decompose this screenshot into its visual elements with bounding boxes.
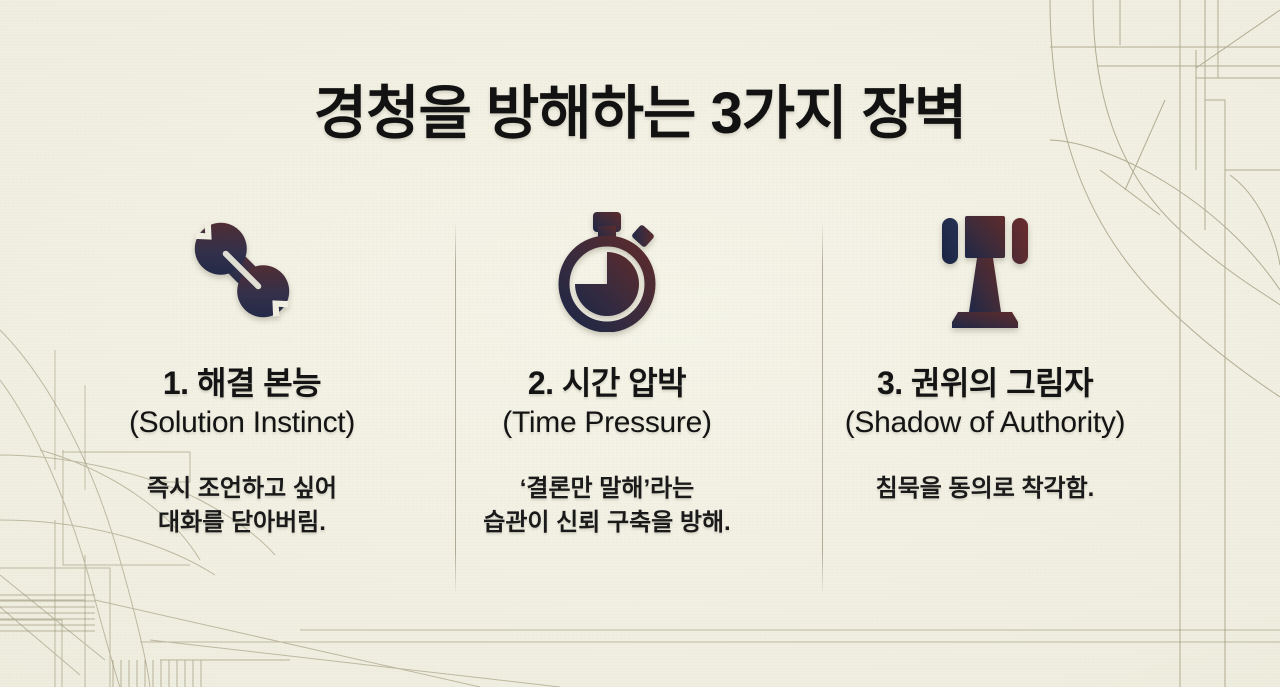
barrier-heading-en-2: (Time Pressure) (502, 406, 711, 440)
barrier-card-3: 3. 권위의 그림자 (Shadow of Authority) 침묵을 동의로… (790, 200, 1180, 506)
barrier-heading-en-1: (Solution Instinct) (129, 406, 355, 440)
barrier-desc-line-1a: 즉시 조언하고 싶어 (147, 472, 337, 506)
barrier-description-2: ‘결론만 말해’라는 습관이 신뢰 구축을 방해. (483, 472, 730, 540)
barrier-heading-en-3: (Shadow of Authority) (845, 406, 1126, 440)
barrier-heading-ko-1: 1. 해결 본능 (163, 358, 321, 404)
gavel-icon (932, 200, 1038, 340)
barrier-desc-line-1b: 대화를 닫아버림. (147, 506, 337, 540)
barrier-columns: 1. 해결 본능 (Solution Instinct) 즉시 조언하고 싶어 … (60, 200, 1220, 540)
barrier-desc-line-2a: ‘결론만 말해’라는 (483, 472, 730, 506)
barrier-card-1: 1. 해결 본능 (Solution Instinct) 즉시 조언하고 싶어 … (60, 200, 424, 540)
slide-content: 경청을 방해하는 3가지 장벽 (0, 0, 1280, 687)
barrier-description-3: 침묵을 동의로 착각함. (876, 472, 1095, 506)
barrier-card-2: 2. 시간 압박 (Time Pressure) ‘결론만 말해’라는 습관이 … (424, 200, 790, 540)
stopwatch-icon (552, 200, 662, 340)
barrier-desc-line-2b: 습관이 신뢰 구축을 방해. (483, 506, 730, 540)
page-title: 경청을 방해하는 3가지 장벽 (0, 66, 1280, 150)
barrier-heading-ko-2: 2. 시간 압박 (528, 358, 686, 404)
barrier-heading-ko-3: 3. 권위의 그림자 (877, 358, 1093, 404)
barrier-desc-line-3a: 침묵을 동의로 착각함. (876, 472, 1095, 506)
wrench-icon (184, 200, 300, 340)
barrier-description-1: 즉시 조언하고 싶어 대화를 닫아버림. (147, 472, 337, 540)
